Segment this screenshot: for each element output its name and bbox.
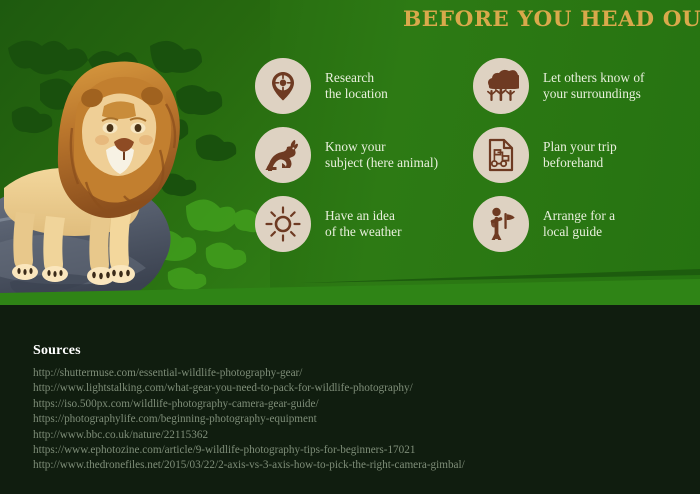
trees-icon bbox=[483, 69, 519, 103]
plan-document-flowchart-icon bbox=[486, 138, 516, 172]
lion-illustration bbox=[0, 0, 270, 305]
sources-list: http://shuttermuse.com/essential-wildlif… bbox=[33, 366, 465, 474]
tip-arrange-local-guide: Arrange for a local guide bbox=[473, 196, 615, 252]
tip-icon-badge bbox=[255, 196, 311, 252]
map-pin-location-icon bbox=[266, 69, 300, 103]
tip-label-line2: the location bbox=[325, 86, 388, 103]
lion-illustration-svg bbox=[0, 0, 270, 305]
footer-section: Sources http://shuttermuse.com/essential… bbox=[0, 305, 700, 494]
tips-grid: Research the location bbox=[255, 58, 700, 263]
source-link[interactable]: https://iso.500px.com/wildlife-photograp… bbox=[33, 397, 465, 412]
tip-icon-badge bbox=[255, 127, 311, 183]
tip-label: Arrange for a local guide bbox=[543, 208, 615, 241]
tip-plan-your-trip: Plan your trip beforehand bbox=[473, 127, 617, 183]
tip-icon-badge bbox=[473, 196, 529, 252]
source-link[interactable]: https://photographylife.com/beginning-ph… bbox=[33, 412, 465, 427]
infographic-poster: BEFORE YOU HEAD OUT bbox=[0, 0, 700, 494]
tip-label-line1: Let others know of bbox=[543, 70, 645, 85]
tip-label: Have an idea of the weather bbox=[325, 208, 402, 241]
tip-label-line2: local guide bbox=[543, 224, 615, 241]
tip-label-line2: subject (here animal) bbox=[325, 155, 438, 172]
tip-have-an-idea-of-weather: Have an idea of the weather bbox=[255, 196, 402, 252]
kangaroo-animal-icon bbox=[265, 139, 301, 171]
source-link[interactable]: http://www.bbc.co.uk/nature/22115362 bbox=[33, 428, 465, 443]
sun-weather-icon bbox=[265, 206, 301, 242]
tip-label: Know your subject (here animal) bbox=[325, 139, 438, 172]
guide-person-with-flag-icon bbox=[485, 206, 517, 242]
tip-label: Research the location bbox=[325, 70, 388, 103]
page-title: BEFORE YOU HEAD OUT bbox=[403, 7, 700, 32]
tip-label: Let others know of your surroundings bbox=[543, 70, 645, 103]
tip-research-the-location: Research the location bbox=[255, 58, 388, 114]
tip-label-line2: your surroundings bbox=[543, 86, 645, 103]
tip-label-line2: of the weather bbox=[325, 224, 402, 241]
tip-let-others-know: Let others know of your surroundings bbox=[473, 58, 645, 114]
tip-icon-badge bbox=[473, 58, 529, 114]
tip-icon-badge bbox=[473, 127, 529, 183]
tip-label-line1: Research bbox=[325, 70, 374, 85]
source-link[interactable]: http://shuttermuse.com/essential-wildlif… bbox=[33, 366, 465, 381]
tip-icon-badge bbox=[255, 58, 311, 114]
source-link[interactable]: http://www.thedronefiles.net/2015/03/22/… bbox=[33, 458, 465, 473]
source-link[interactable]: http://www.lightstalking.com/what-gear-y… bbox=[33, 381, 465, 396]
source-link[interactable]: https://www.ephotozine.com/article/9-wil… bbox=[33, 443, 465, 458]
sources-heading: Sources bbox=[33, 343, 81, 359]
tip-label: Plan your trip beforehand bbox=[543, 139, 617, 172]
tip-label-line1: Know your bbox=[325, 139, 386, 154]
tip-label-line1: Arrange for a bbox=[543, 208, 615, 223]
tip-know-your-subject: Know your subject (here animal) bbox=[255, 127, 438, 183]
tip-label-line2: beforehand bbox=[543, 155, 617, 172]
hero-section: BEFORE YOU HEAD OUT bbox=[0, 0, 700, 305]
tip-label-line1: Have an idea bbox=[325, 208, 395, 223]
tip-label-line1: Plan your trip bbox=[543, 139, 617, 154]
